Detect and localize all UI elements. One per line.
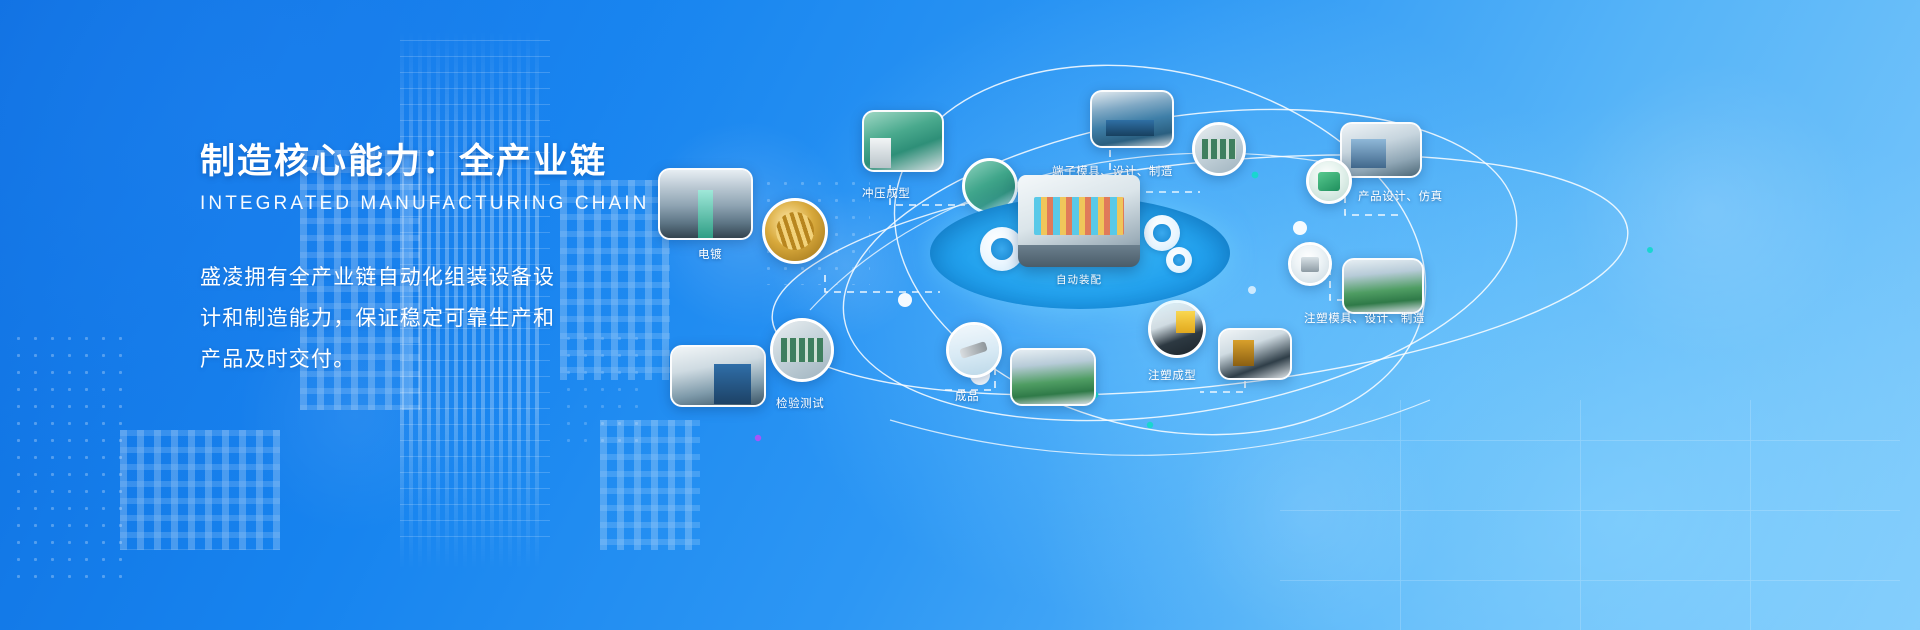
dot-grid-pattern [10, 330, 130, 580]
node-label: 成品 [955, 388, 979, 404]
page-title: 制造核心能力：全产业链 [200, 140, 820, 184]
injection-mold-photo [1342, 258, 1424, 314]
stamping-machine-photo [862, 110, 944, 172]
assembly-machine-icon [1018, 175, 1140, 267]
manufacturing-chain-diagram: 电镀 冲压成型 端子模具、设计、制造 [640, 0, 1920, 630]
design-simulation-photo [1340, 122, 1422, 178]
injection-machine-photo [1148, 300, 1206, 358]
hub-label: 自动装配 [1018, 272, 1140, 287]
node-label: 注塑成型 [1148, 367, 1196, 383]
body-copy: 盛凌拥有全产业链自动化组装设备设 计和制造能力，保证稳定可靠生产和 产品及时交付… [200, 257, 820, 380]
node-label: 产品设计、仿真 [1358, 188, 1443, 204]
node-label: 冲压成型 [862, 185, 910, 201]
node-label: 检验测试 [776, 395, 824, 411]
body-line: 计和制造能力，保证稳定可靠生产和 [200, 298, 820, 339]
gear-icon [1144, 215, 1180, 251]
node-label: 注塑模具、设计、制造 [1304, 310, 1425, 326]
body-line: 盛凌拥有全产业链自动化组装设备设 [200, 257, 820, 298]
assembly-line-photo [1010, 348, 1096, 406]
terminal-mold-photo [1192, 122, 1246, 176]
page-subtitle: INTEGRATED MANUFACTURING CHAIN [200, 193, 820, 215]
square-grid-pattern [120, 430, 280, 550]
green-model-icon [1306, 158, 1352, 204]
connector-product-photo [946, 322, 1002, 378]
body-line: 产品及时交付。 [200, 339, 820, 380]
orbit-connector-lines [640, 0, 1920, 630]
injection-line-photo [1218, 328, 1292, 380]
hub-auto-assembly[interactable]: 自动装配 [930, 175, 1230, 305]
mold-clamp-icon [1288, 242, 1332, 286]
mold-workshop-photo [1090, 90, 1174, 148]
manufacturing-banner: 制造核心能力：全产业链 INTEGRATED MANUFACTURING CHA… [0, 0, 1920, 630]
gear-icon [1166, 247, 1192, 273]
headline-block: 制造核心能力：全产业链 INTEGRATED MANUFACTURING CHA… [200, 140, 820, 380]
